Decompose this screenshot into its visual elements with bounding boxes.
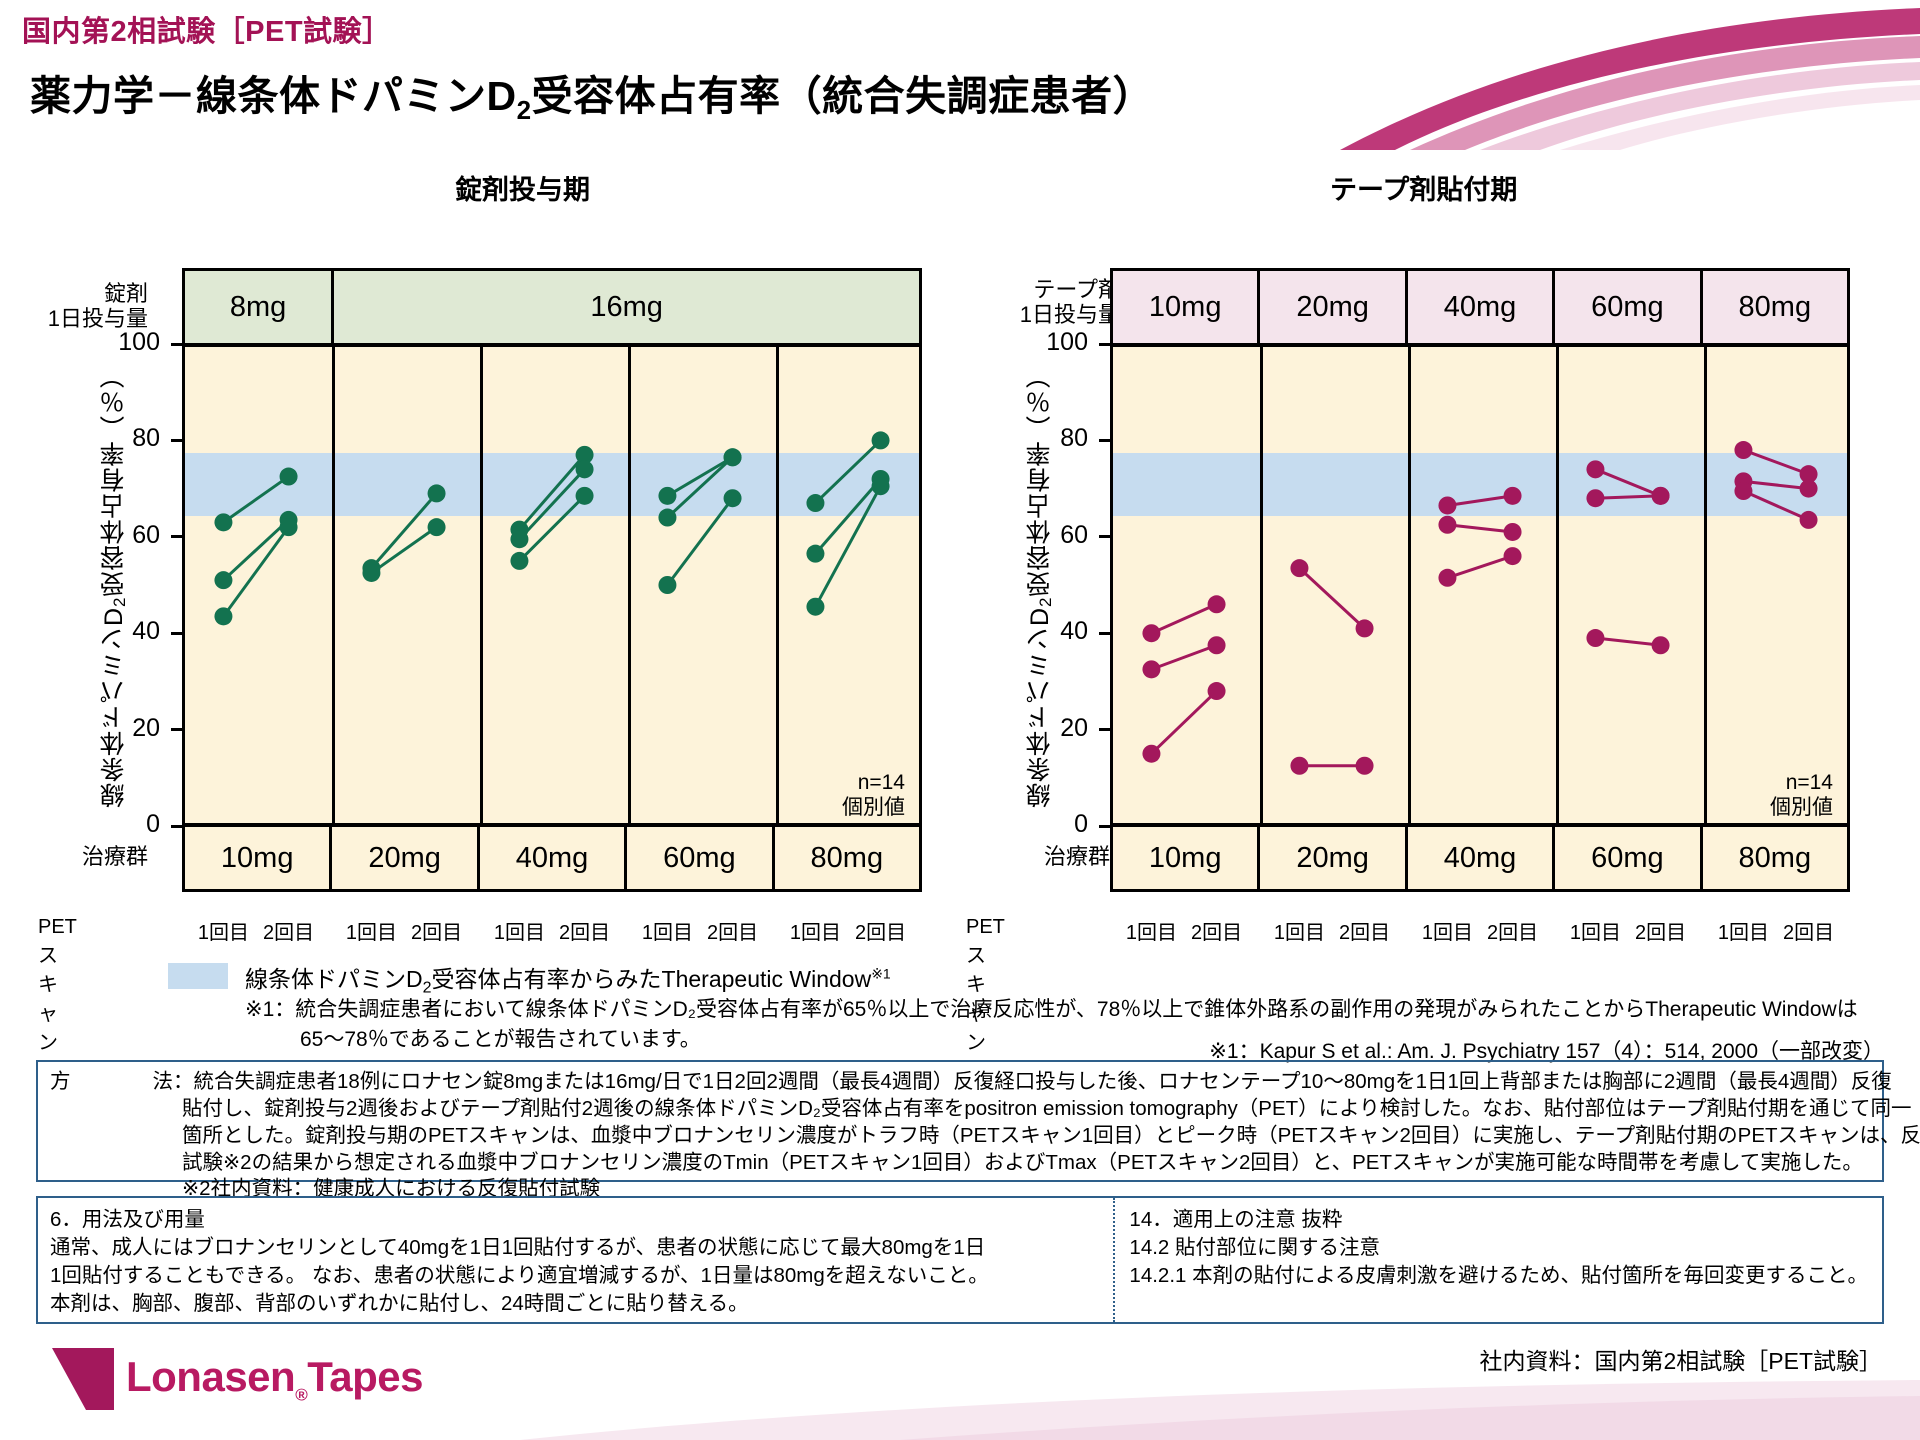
dosage-left-heading: 6．用法及び用量 (50, 1206, 1101, 1234)
scan-label: 2回目 (1320, 916, 1410, 945)
subject-line (1743, 491, 1808, 520)
y-axis-tick (1099, 632, 1110, 635)
tape-group-caption: 治療群 (990, 845, 1110, 870)
group-cell: 40mg (1408, 827, 1555, 889)
dosage-right-line2: 14.2.1 本剤の貼付による皮膚刺激を避けるため、貼付箇所を毎回変更すること。 (1129, 1262, 1868, 1290)
subject-line (1447, 496, 1512, 506)
data-point (1142, 660, 1160, 678)
data-point (1734, 441, 1752, 459)
y-axis-tick (1099, 439, 1110, 442)
group-cell: 80mg (1703, 827, 1847, 889)
dosage-box: 6．用法及び用量 通常、成人にはブロナンセリンとして40mgを1日1回貼付するが… (36, 1196, 1884, 1324)
subject-line (1151, 645, 1216, 669)
data-point (1356, 757, 1374, 775)
method-line-3: 箇所とした。錠剤投与期のPETスキャンは、血漿中ブロナンセリン濃度がトラフ時（P… (50, 1123, 1870, 1150)
dosage-right-column: 14．適用上の注意 抜粋 14.2 貼付部位に関する注意 14.2.1 本剤の貼… (1115, 1198, 1882, 1322)
tape-scan-caption: PETスキャン (966, 916, 1005, 1055)
subject-line (1743, 450, 1808, 474)
data-point (1652, 636, 1670, 654)
subject-line (1151, 691, 1216, 754)
tape-group-row: 10mg20mg40mg60mg80mg (1110, 824, 1850, 892)
dosage-right-heading: 14．適用上の注意 抜粋 (1129, 1206, 1868, 1234)
data-point (1142, 624, 1160, 642)
data-point (1356, 619, 1374, 637)
product-logo: Lonasen®Tapes (52, 1348, 423, 1410)
y-axis-tick (1099, 728, 1110, 731)
legend-color-swatch (168, 963, 228, 989)
tape-y-axis-label: 線条体ドパミンD2受容体占有率（％） (1022, 368, 1058, 808)
legend-note-line1: ※1：統合失調症患者において線条体ドパミンD₂受容体占有率が65％以上で治療反応… (245, 993, 1858, 1023)
y-axis-tick (1099, 825, 1110, 828)
data-point (1586, 629, 1604, 647)
data-point (1586, 460, 1604, 478)
data-point (1504, 487, 1522, 505)
data-point (1586, 489, 1604, 507)
subject-line (1595, 496, 1660, 498)
scan-label: 2回目 (1616, 916, 1706, 945)
tape-n-label: n=14 個別値 (1698, 770, 1833, 820)
method-line-4: 試験※2の結果から想定される血漿中ブロナンセリン濃度のTmin（PETスキャン1… (50, 1150, 1870, 1177)
data-point (1504, 547, 1522, 565)
data-point (1208, 682, 1226, 700)
data-point (1438, 496, 1456, 514)
logo-wordmark: Lonasen®Tapes (126, 1353, 423, 1405)
data-point (1652, 487, 1670, 505)
method-box: 方 法：統合失調症患者18例にロナセン錠8mgまたは16mg/日で1日2回2週間… (36, 1060, 1884, 1182)
data-point (1438, 569, 1456, 587)
data-point (1504, 523, 1522, 541)
dosage-left-line3: 本剤は、胸部、腹部、背部のいずれかに貼付し、24時間ごとに貼り替える。 (50, 1290, 1101, 1318)
dosage-left-line2: 1回貼付することもできる。 なお、患者の状態により適宜増減するが、1日量は80m… (50, 1262, 1101, 1290)
scan-label: 2回目 (1468, 916, 1558, 945)
subject-line (1447, 525, 1512, 532)
legend-note-line2: 65～78％であることが報告されています。 (300, 1023, 701, 1053)
data-point (1290, 559, 1308, 577)
dosage-right-line1: 14.2 貼付部位に関する注意 (1129, 1234, 1868, 1262)
data-point (1290, 757, 1308, 775)
subject-line (1447, 556, 1512, 578)
subject-line (1299, 568, 1364, 628)
method-line-1: 方 法：統合失調症患者18例にロナセン錠8mgまたは16mg/日で1日2回2週間… (50, 1069, 1870, 1096)
data-point (1142, 745, 1160, 763)
subject-line (1743, 481, 1808, 488)
y-axis-tick-label: 0 (1018, 810, 1088, 839)
dosage-left-column: 6．用法及び用量 通常、成人にはブロナンセリンとして40mgを1日1回貼付するが… (38, 1198, 1115, 1322)
scan-label: 2回目 (1172, 916, 1262, 945)
scan-label: 2回目 (1764, 916, 1854, 945)
group-cell: 10mg (1113, 827, 1260, 889)
subject-line (1595, 469, 1660, 496)
data-point (1208, 636, 1226, 654)
group-cell: 20mg (1260, 827, 1407, 889)
method-line-2: 貼付し、錠剤投与2週後およびテープ剤貼付2週後の線条体ドパミンD₂受容体占有率を… (50, 1096, 1870, 1123)
dosage-left-line1: 通常、成人にはブロナンセリンとして40mgを1日1回貼付するが、患者の状態に応じ… (50, 1234, 1101, 1262)
subject-line (1595, 638, 1660, 645)
y-axis-tick-label: 100 (1018, 328, 1088, 357)
data-point (1438, 516, 1456, 534)
subject-line (1151, 604, 1216, 633)
data-point (1800, 511, 1818, 529)
logo-mark-icon (52, 1348, 114, 1410)
y-axis-tick (1099, 343, 1110, 346)
data-point (1208, 595, 1226, 613)
y-axis-tick (1099, 535, 1110, 538)
group-cell: 60mg (1555, 827, 1702, 889)
data-point (1734, 482, 1752, 500)
data-point (1800, 480, 1818, 498)
legend-band-label: 線条体ドパミンD2受容体占有率からみたTherapeutic Window※1 (245, 960, 891, 998)
